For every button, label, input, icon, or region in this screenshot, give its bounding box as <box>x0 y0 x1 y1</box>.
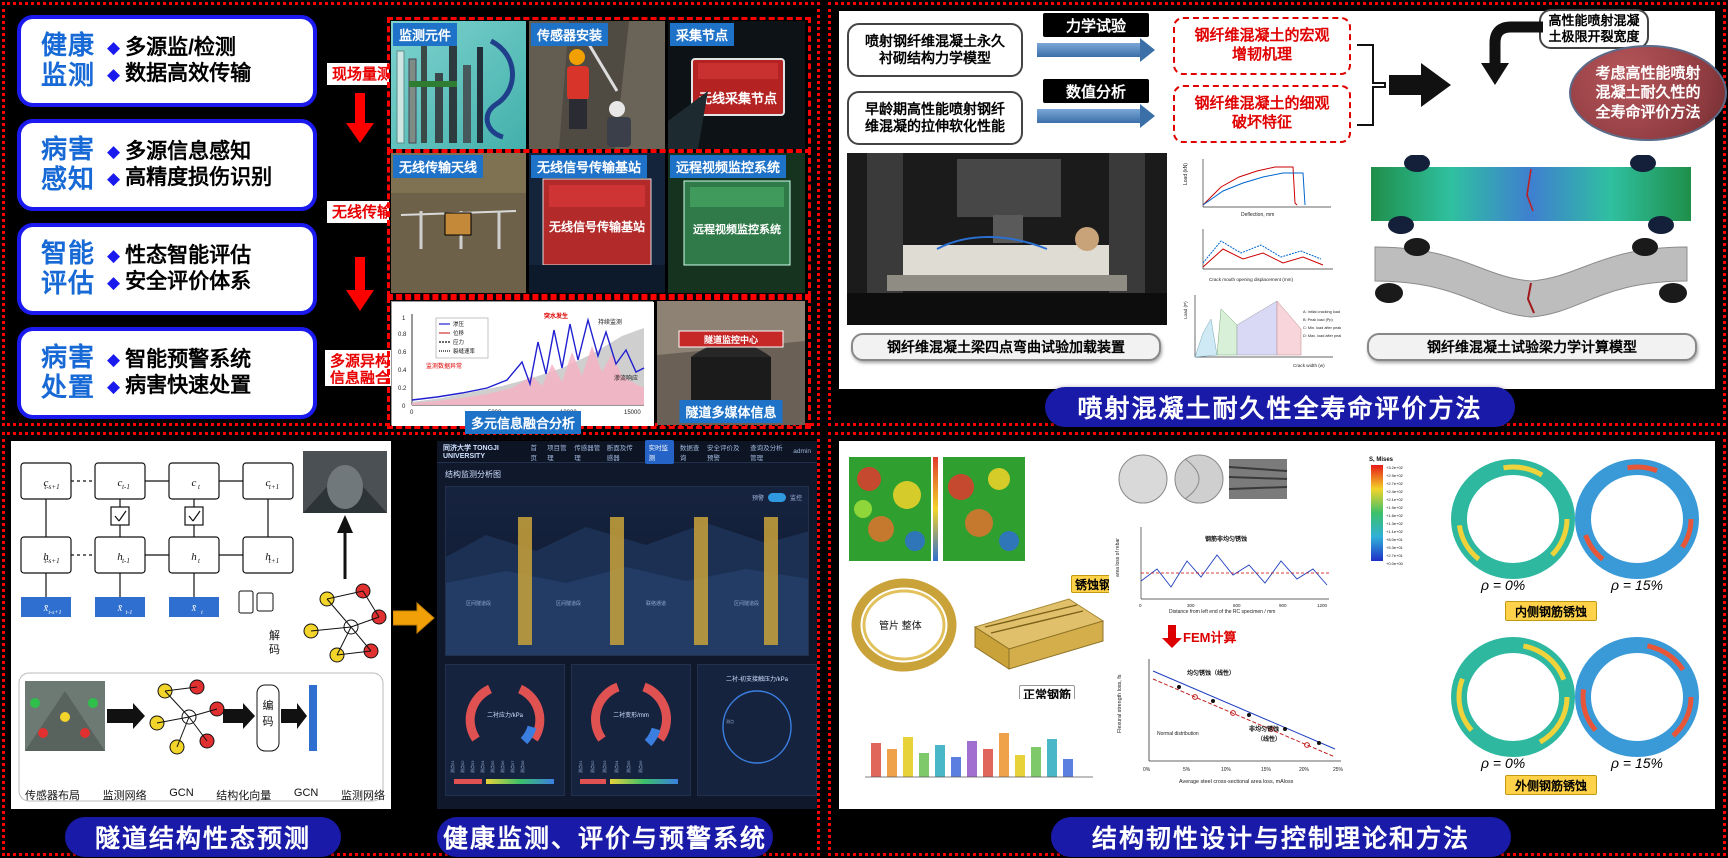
annotation-normal-dist: Normal distribution <box>1157 731 1199 737</box>
mini-chart-1-svg: Deflection, mm Load (kN) <box>1181 153 1341 219</box>
heatmap-svg <box>849 449 1029 567</box>
card-title-line2: 感知 <box>29 165 107 195</box>
diamond-icon: ◆ <box>107 168 120 189</box>
sign-text: 无线采集节点 <box>698 91 777 106</box>
gauge-row: 二衬应力/kPa 测点01 测点02 测点03 测点04 测点05 测点06 测… <box>445 664 809 796</box>
bar3d-svg <box>853 699 1103 791</box>
legend-item: D: Max. load after peak (Pd) <box>1303 334 1341 338</box>
bullet-label: 多源信息感知 <box>125 139 251 165</box>
result-line2: 混凝土耐久性的 <box>1595 83 1700 103</box>
chart-flexural-svg: 均匀锈蚀（线性） 非均匀锈蚀 （线性） Normal distribution … <box>1109 649 1353 791</box>
svg-text:+1.1e+02: +1.1e+02 <box>1386 529 1404 534</box>
x-tick: 5% <box>1183 767 1191 773</box>
process-label-wireless-transmission: 无线传输 <box>327 201 389 223</box>
bullet-item: ◆安全评价体系 <box>107 269 305 295</box>
fem-ring-results: S, Mises +3.2e+02+2.9e+02+2.7e+02 +2.4e+… <box>1365 449 1709 789</box>
svg-text:+2.9e+02: +2.9e+02 <box>1386 473 1404 478</box>
caption-fusion-analysis: 多元信息融合分析 <box>465 411 581 434</box>
rho-label-4: ρ = 15% <box>1611 755 1663 771</box>
card-bullets: ◆智能预警系统 ◆病害快速处置 <box>107 347 305 400</box>
monitoring-dashboard[interactable]: 同济大学 TONGJI UNIVERSITY 首页 项目管理 传感器管理 断面及… <box>437 441 817 809</box>
encoder-label-2: 码 <box>263 715 274 728</box>
mini-chart-cmod: Crack mouth opening displacement (mm) <box>1181 223 1341 285</box>
gauge-card-contact-pressure[interactable]: 二衬-初支接触压力/kPa 测点 <box>697 664 817 796</box>
card-title-line2: 监测 <box>29 61 107 91</box>
fem-beam-deformed-plot <box>1361 237 1701 327</box>
orange-right-arrow-icon <box>393 601 435 635</box>
flow-box-line1: 喷射钢纤维混凝土永久 <box>865 33 1005 51</box>
svg-text:t+1: t+1 <box>269 557 279 565</box>
section-label: 联络通道 <box>646 600 666 607</box>
svg-text:+2.7e+01: +2.7e+01 <box>1386 553 1404 558</box>
card-title-line1: 病害 <box>29 343 107 373</box>
card-bullets: ◆多源信息感知 ◆高精度损伤识别 <box>107 139 305 192</box>
chart-flexural-strength-loss: 均匀锈蚀（线性） 非均匀锈蚀 （线性） Normal distribution … <box>1109 649 1353 791</box>
annotation-uniform: 均匀锈蚀（线性） <box>1187 669 1235 677</box>
down-arrow-icon-1 <box>345 93 375 145</box>
svg-text:测点07: 测点07 <box>509 760 515 773</box>
result-line3: 全寿命评价方法 <box>1595 103 1700 123</box>
decode-label-2: 码 <box>269 643 280 656</box>
photo-remote-video-monitoring[interactable]: 远程视频监控系统 远程视频监控系统 <box>668 153 805 293</box>
capability-card-list: 健康 监测 ◆多源监/检测 ◆数据高效传输 病害 感知 ◆多源信息感知 ◆高精度… <box>17 15 317 419</box>
svg-text:+3.2e+02: +3.2e+02 <box>1386 465 1404 470</box>
quadrant-bottom-right: 管片 整体 锈蚀钢筋 正常钢筋 <box>828 432 1726 856</box>
dashboard-toggle[interactable]: 预警 监控 <box>752 493 802 502</box>
legend-item: 裂缝速率 <box>453 347 476 355</box>
svg-text:测点03: 测点03 <box>469 760 475 773</box>
nav-item-sensor[interactable]: 传感器管理 <box>574 442 601 462</box>
flow-box-line2: 土极限开裂宽度 <box>1548 29 1639 45</box>
svg-text:测点01: 测点01 <box>449 760 455 773</box>
banner-bottom-right: 结构韧性设计与控制理论和方法 <box>1051 817 1511 857</box>
svg-text:测点05: 测点05 <box>625 760 631 773</box>
y-tick: 0.4 <box>398 368 407 374</box>
fem-beam-stress-plot <box>1361 155 1701 235</box>
flow-box-crack-width-limit[interactable]: 高性能喷射混凝 土极限开裂宽度 <box>1539 9 1649 49</box>
caption-beam-mechanical-model: 钢纤维混凝土试验梁力学计算模型 <box>1367 333 1697 361</box>
pipeline-label-row: 传感器布局 监测网络 GCN 结构化向量 GCN 监测网络 <box>25 787 385 803</box>
diamond-icon: ◆ <box>107 64 120 85</box>
dashboard-header: 同济大学 TONGJI UNIVERSITY 首页 项目管理 传感器管理 断面及… <box>437 441 817 463</box>
mini-chart-load-deflection: Deflection, mm Load (kN) <box>1181 153 1341 219</box>
annotation-right: 持续监测 <box>598 318 622 326</box>
legend-item: 渗压 <box>453 320 465 328</box>
x-tick: 20% <box>1299 767 1310 773</box>
banner-bottom-left-b: 健康监测、评价与预警系统 <box>437 817 773 857</box>
pipeline-label: 传感器布局 <box>25 787 80 803</box>
bullet-item: ◆多源信息感知 <box>107 139 305 165</box>
caption-tunnel-media: 隧道多媒体信息 <box>679 400 782 423</box>
card-title: 病害 处置 <box>29 343 107 403</box>
toggle-label-warning: 预警 <box>752 493 764 502</box>
x-tick: 10% <box>1221 767 1232 773</box>
label-inner-rebar-corrosion: 内侧钢筋锈蚀 <box>1505 601 1597 621</box>
gauge-svg-1: 二衬应力/kPa <box>446 665 564 755</box>
fem-deformed-svg <box>1361 237 1701 327</box>
y-axis-label: Flexural strength loss, fs <box>1117 674 1123 733</box>
svg-text:t-1: t-1 <box>122 483 130 491</box>
card-title-line1: 智能 <box>29 239 107 269</box>
svg-text:+8.0e+01: +8.0e+01 <box>1386 537 1404 542</box>
nav-item-query[interactable]: 数据查询 <box>680 442 701 462</box>
photo-caption: 无线信号传输基站 <box>531 155 647 178</box>
flow-result-lifecycle-evaluation[interactable]: 考虑高性能喷射 混凝土耐久性的 全寿命评价方法 <box>1569 45 1727 141</box>
legend-item: B: Peak load (Pp) <box>1303 318 1333 322</box>
card-title: 智能 评估 <box>29 239 107 299</box>
flow-arrow-label-numerical-analysis: 数值分析 <box>1043 79 1149 103</box>
x-tick: 0% <box>1143 767 1151 773</box>
svg-text:测点08: 测点08 <box>519 760 525 773</box>
dashed-box-line2: 破坏特征 <box>1194 114 1329 133</box>
svg-text:测点06: 测点06 <box>637 760 643 773</box>
diamond-icon: ◆ <box>107 376 120 397</box>
sign-text: 隧道监控中心 <box>704 334 758 345</box>
diamond-icon: ◆ <box>107 245 120 266</box>
bullet-item: ◆高精度损伤识别 <box>107 165 305 191</box>
legend-item: 应力 <box>453 338 464 346</box>
svg-text:300: 300 <box>1187 603 1195 608</box>
svg-text:900: 900 <box>1279 603 1287 608</box>
bar3d-plot <box>853 699 1103 791</box>
photo-caption: 传感器安装 <box>531 23 608 46</box>
dashboard-user[interactable]: admin <box>793 448 811 455</box>
svg-text:测点05: 测点05 <box>489 760 495 773</box>
y-axis-label: area loss of rebar <box>1115 538 1121 577</box>
quadrant-top-left: 健康 监测 ◆多源监/检测 ◆数据高效传输 病害 感知 ◆多源信息感知 ◆高精度… <box>2 2 820 426</box>
dashed-box-line2: 增韧机理 <box>1194 46 1329 65</box>
pipeline-label: 结构化向量 <box>216 787 271 803</box>
pipeline-label: GCN <box>294 787 318 803</box>
svg-text:+5.3e+01: +5.3e+01 <box>1386 545 1404 550</box>
elbow-down-arrow-icon <box>1471 21 1551 89</box>
quadrant-bottom-left: ct-s+1 ct-1 ct ct+1 ht-s+1 ht-1 ht ht+1 … <box>2 432 820 856</box>
x-axis-label: Deflection, mm <box>1241 212 1274 218</box>
card-bullets: ◆性态智能评估 ◆安全评价体系 <box>107 243 305 296</box>
gauge-title: 二衬-初支接触压力/kPa <box>726 675 789 683</box>
rho-label-1: ρ = 0% <box>1481 577 1525 593</box>
annotation-grey: 渗流响应 <box>614 374 638 382</box>
svg-text:600: 600 <box>1233 603 1241 608</box>
y-axis-label: Load (kN) <box>1183 163 1189 185</box>
encoder-label-1: 编 <box>263 698 274 712</box>
mini-chart-load-crackwidth: Load (P) Crack width (w) A: Initial crac… <box>1181 289 1341 371</box>
ring-label: 管片 整体 <box>879 617 922 632</box>
y-axis-label: Load (P) <box>1183 301 1188 319</box>
bullet-label: 病害快速处置 <box>125 373 251 399</box>
nav-item-safety[interactable]: 安全评价及预警 <box>707 442 744 462</box>
svg-text:t-1: t-1 <box>126 610 133 616</box>
dashed-box-line1: 钢纤维混凝土的细观 <box>1194 95 1329 114</box>
card-intelligent-assessment[interactable]: 智能 评估 ◆性态智能评估 ◆安全评价体系 <box>17 223 317 315</box>
rho-label-2: ρ = 15% <box>1611 577 1663 593</box>
brace-and-arrow <box>1355 25 1455 141</box>
svg-text:+2.1e+02: +2.1e+02 <box>1386 497 1404 502</box>
mini-chart-2-svg: Crack mouth opening displacement (mm) <box>1181 223 1341 285</box>
section-photos-svg <box>1113 449 1289 509</box>
card-title-line2: 处置 <box>29 373 107 403</box>
label-outer-rebar-corrosion: 外侧钢筋锈蚀 <box>1505 775 1597 795</box>
bullet-item: ◆多源监/检测 <box>107 35 305 61</box>
bullet-label: 安全评价体系 <box>125 269 251 295</box>
card-title: 病害 感知 <box>29 135 107 195</box>
card-title-line1: 病害 <box>29 135 107 165</box>
bullet-label: 智能预警系统 <box>125 347 251 373</box>
svg-text:+2.7e+02: +2.7e+02 <box>1386 481 1404 486</box>
svg-text:测点04: 测点04 <box>479 760 485 773</box>
photo-collection-node[interactable]: 采集节点 无线采集节点 <box>668 21 805 149</box>
segment-ring-diagram: 管片 整体 <box>849 575 959 675</box>
card-defect-perception[interactable]: 病害 感知 ◆多源信息感知 ◆高精度损伤识别 <box>17 119 317 211</box>
blue-arrow-2 <box>1037 109 1141 123</box>
gauge-legend-2: 测点01 测点02 测点03 测点04 测点05 测点06 <box>572 755 690 793</box>
chart-nonuniform-corrosion: 钢筋非均匀锈蚀 Distance from left end of the RC… <box>1109 517 1339 625</box>
section-svg: 区间隧道段 区间隧道段 联络通道 区间隧道段 <box>446 487 809 656</box>
input-label: x̄ <box>191 603 197 614</box>
flow-box-tensile-softening[interactable]: 早龄期高性能喷射钢纤 维混凝的拉伸软化性能 <box>847 91 1023 145</box>
svg-text:1200: 1200 <box>1317 603 1328 608</box>
dashboard-brand: 同济大学 TONGJI UNIVERSITY <box>443 443 524 460</box>
photo-wireless-base-station[interactable]: 无线信号传输基站 无线信号传输基站 <box>529 153 665 293</box>
x-tick: 25% <box>1333 767 1344 773</box>
bullet-label: 性态智能评估 <box>125 243 251 269</box>
bullet-item: ◆性态智能评估 <box>107 243 305 269</box>
decode-label-1: 解 <box>269 628 280 642</box>
toggle-switch[interactable] <box>768 493 786 502</box>
card-bullets: ◆多源监/检测 ◆数据高效传输 <box>107 35 305 88</box>
nav-item-section[interactable]: 断面及传感器 <box>607 442 639 462</box>
gauge-title: 二衬变形/mm <box>613 711 649 719</box>
diamond-icon: ◆ <box>107 141 120 162</box>
svg-text:测点02: 测点02 <box>589 760 595 773</box>
field-photo-grid: 监测元件 传感器安装 <box>391 13 815 421</box>
tunnel-section-visual[interactable]: 区间隧道段 区间隧道段 联络通道 区间隧道段 预警 监控 <box>445 486 809 656</box>
photo-sensor-installation[interactable]: 传感器安装 <box>529 21 665 149</box>
annotation-left: 监测数据异常 <box>426 362 462 370</box>
rho-label-3: ρ = 0% <box>1481 755 1525 771</box>
sign-text: 无线信号传输基站 <box>548 219 645 234</box>
section-label: 区间隧道段 <box>466 600 491 607</box>
bullet-item: ◆病害快速处置 <box>107 373 305 399</box>
section-label: 区间隧道段 <box>556 600 581 607</box>
svg-text:测点: 测点 <box>726 718 734 724</box>
toggle-label-monitor: 监控 <box>790 493 802 502</box>
flow-arrow-label-mechanical-test: 力学试验 <box>1043 13 1149 37</box>
gauge-card-stress[interactable]: 二衬应力/kPa 测点01 测点02 测点03 测点04 测点05 测点06 测… <box>445 664 565 796</box>
flow-box-line2: 维混凝的拉伸软化性能 <box>865 118 1005 136</box>
pipeline-label: 监测网络 <box>341 787 385 803</box>
svg-text:+1.9e+02: +1.9e+02 <box>1386 505 1404 510</box>
rebar-plate-diagram <box>961 583 1111 693</box>
x-tick: 15000 <box>624 410 641 416</box>
y-tick: 0.2 <box>398 386 407 392</box>
y-tick: 0.6 <box>398 350 407 356</box>
svg-text:+1.3e+02: +1.3e+02 <box>1386 521 1404 526</box>
svg-text:t-1: t-1 <box>122 557 130 565</box>
svg-text:t-s+1: t-s+1 <box>44 557 59 565</box>
photo-caption: 无线传输天线 <box>393 155 483 178</box>
gauge-svg-3: 二衬-初支接触压力/kPa 测点 <box>698 665 816 775</box>
chart-nonuniform-svg: 钢筋非均匀锈蚀 Distance from left end of the RC… <box>1109 517 1339 625</box>
photo-four-point-bending-test[interactable] <box>847 153 1167 325</box>
nav-item-project[interactable]: 项目管理 <box>547 442 568 462</box>
cell-label: c <box>192 477 197 489</box>
chart-title: 钢筋非均匀锈蚀 <box>1205 535 1247 543</box>
dashed-box-line1: 钢纤维混凝土的宏观 <box>1194 27 1329 46</box>
sign-text: 远程视频监控系统 <box>693 222 781 236</box>
hidden-label: h <box>191 551 197 563</box>
lstm-gcn-diagram: ct-s+1 ct-1 ct ct+1 ht-s+1 ht-1 ht ht+1 … <box>11 441 391 809</box>
photo-art-test-rig <box>847 153 1167 325</box>
legend-item: A: Initial cracking load (Pi) <box>1303 310 1341 314</box>
photo-monitoring-component[interactable]: 监测元件 <box>391 21 526 149</box>
svg-text:t-s+1: t-s+1 <box>48 610 61 616</box>
x-tick: 15% <box>1261 767 1272 773</box>
card-defect-treatment[interactable]: 病害 处置 ◆智能预警系统 ◆病害快速处置 <box>17 327 317 419</box>
section-label: 区间隧道段 <box>734 600 759 607</box>
banner-bottom-left-a: 隧道结构性态预测 <box>65 817 341 857</box>
card-title: 健康 监测 <box>29 31 107 91</box>
card-health-monitoring[interactable]: 健康 监测 ◆多源监/检测 ◆数据高效传输 <box>17 15 317 107</box>
bullet-label: 数据高效传输 <box>125 61 251 87</box>
svg-text:测点04: 测点04 <box>613 760 619 773</box>
gauge-title: 二衬应力/kPa <box>487 711 524 719</box>
flow-result-micro-damage[interactable]: 钢纤维混凝土的细观 破坏特征 <box>1173 85 1351 143</box>
pipeline-label: 监测网络 <box>103 787 147 803</box>
diamond-icon: ◆ <box>107 37 120 58</box>
photo-caption: 采集节点 <box>670 23 734 46</box>
flow-result-macro-toughening[interactable]: 钢纤维混凝土的宏观 增韧机理 <box>1173 17 1351 75</box>
banner-top-right: 喷射混凝土耐久性全寿命评价方法 <box>1045 387 1515 427</box>
flow-box-line1: 高性能喷射混凝 <box>1548 13 1639 29</box>
diamond-icon: ◆ <box>107 272 120 293</box>
caption-bending-test-device: 钢纤维混凝土梁四点弯曲试验加载装置 <box>851 333 1161 361</box>
pipeline-label: GCN <box>169 787 193 803</box>
svg-text:+0.0e+00: +0.0e+00 <box>1386 561 1404 566</box>
mini-chart-3-svg: Load (P) Crack width (w) A: Initial crac… <box>1181 289 1341 371</box>
plate-svg <box>961 583 1111 693</box>
svg-text:测点01: 测点01 <box>577 760 583 773</box>
bullet-label: 高精度损伤识别 <box>125 165 272 191</box>
fem-beam-svg <box>1361 155 1701 235</box>
x-axis-label: Average steel cross-sectional area loss,… <box>1179 779 1294 785</box>
red-down-arrow-icon-fem <box>1161 625 1183 649</box>
bullet-item: ◆数据高效传输 <box>107 61 305 87</box>
corrosion-heatmap-pair <box>849 449 1029 567</box>
dashboard-title: 结构监测分析图 <box>437 463 817 486</box>
svg-text:+2.4e+02: +2.4e+02 <box>1386 489 1404 494</box>
flow-box-line2: 衬砌结构力学模型 <box>865 50 1005 68</box>
x-axis-label: Crack mouth opening displacement (mm) <box>1209 277 1293 282</box>
x-axis-label: Distance from left end of the RC specime… <box>1169 609 1275 615</box>
x-axis-label: Crack width (w) <box>1293 363 1325 368</box>
card-title-line2: 评估 <box>29 269 107 299</box>
svg-text:t+1: t+1 <box>269 483 279 491</box>
svg-text:测点06: 测点06 <box>499 760 505 773</box>
annotation-nonuniform-1: 非均匀锈蚀 <box>1249 725 1279 733</box>
photo-caption: 远程视频监控系统 <box>670 155 786 178</box>
input-label: x̄ <box>117 603 123 614</box>
svg-text:t-s+1: t-s+1 <box>44 483 59 491</box>
annotation-peak: 突水发生 <box>544 312 568 320</box>
photo-caption: 监测元件 <box>393 23 457 46</box>
legend-item: C: Min. load after peak (Pm) <box>1303 326 1341 330</box>
process-label-multisource-fusion: 多源异构 信息融合 <box>325 350 391 386</box>
flow-box-mechanical-model[interactable]: 喷射钢纤维混凝土永久 衬砌结构力学模型 <box>847 23 1023 77</box>
quadrant-top-right: 喷射钢纤维混凝土永久 衬砌结构力学模型 力学试验 钢纤维混凝土的宏观 增韧机理 … <box>828 2 1726 426</box>
photo-wireless-antenna[interactable]: 无线传输天线 <box>391 153 526 293</box>
gauge-legend-1: 测点01 测点02 测点03 测点04 测点05 测点06 测点07 测点08 <box>446 755 564 793</box>
y-tick: 0.8 <box>398 332 407 338</box>
annotation-nonuniform-2: （线性） <box>1257 735 1281 743</box>
blue-arrow-1 <box>1037 43 1141 57</box>
bullet-item: ◆智能预警系统 <box>107 347 305 373</box>
bullet-label: 多源监/检测 <box>125 35 236 61</box>
rebar-section-photos <box>1113 449 1289 509</box>
svg-text:+1.6e+02: +1.6e+02 <box>1386 513 1404 518</box>
nav-item-home[interactable]: 首页 <box>530 442 541 462</box>
poster-root: 健康 监测 ◆多源监/检测 ◆数据高效传输 病害 感知 ◆多源信息感知 ◆高精度… <box>0 0 1728 858</box>
process-label-line2: 信息融合 <box>330 371 386 387</box>
gauge-svg-2: 二衬变形/mm <box>572 665 690 755</box>
svg-text:测点02: 测点02 <box>459 760 465 773</box>
result-line1: 考虑高性能喷射 <box>1595 64 1700 84</box>
chart-svg: 0 5000 10000 15000 0 0.2 0.4 0.6 0.8 1 时… <box>392 302 654 426</box>
prediction-diagram-canvas: ct-s+1 ct-1 ct ct+1 ht-s+1 ht-1 ht ht+1 … <box>11 441 391 809</box>
card-title-line1: 健康 <box>29 31 107 61</box>
down-arrow-icon-2 <box>345 257 375 313</box>
process-label-field-measurement: 现场量测 <box>327 63 389 85</box>
gauge-card-deformation[interactable]: 二衬变形/mm 测点01 测点02 测点03 测点04 测点05 测点06 <box>571 664 691 796</box>
multisource-fusion-chart: 0 5000 10000 15000 0 0.2 0.4 0.6 0.8 1 时… <box>391 301 653 425</box>
nav-item-analysis[interactable]: 查询及分析管理 <box>750 442 787 462</box>
legend-item: 位移 <box>453 329 465 337</box>
label-fem-calculation: FEM计算 <box>1183 627 1236 646</box>
diamond-icon: ◆ <box>107 349 120 370</box>
flow-box-line1: 早龄期高性能喷射钢纤 <box>865 101 1005 119</box>
nav-item-realtime-active[interactable]: 实时监测 <box>645 440 674 464</box>
photo-tunnel-media[interactable]: 隧道监控中心 隧道多媒体信息 <box>657 301 805 425</box>
process-label-line1: 多源异构 <box>330 354 386 371</box>
svg-text:测点03: 测点03 <box>601 760 607 773</box>
fem-legend-title: S, Mises <box>1369 457 1394 463</box>
